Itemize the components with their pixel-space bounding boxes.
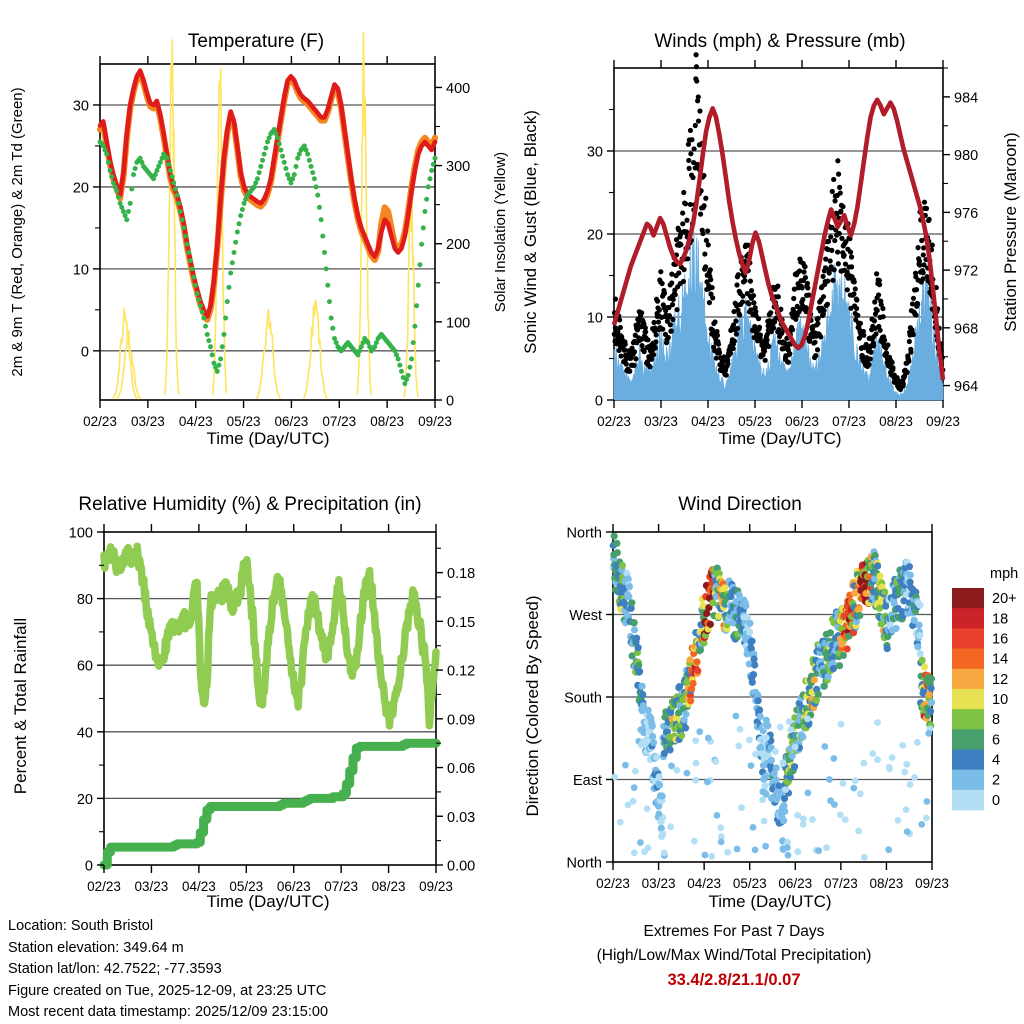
wind-direction-point <box>837 812 844 819</box>
dewpoint-point <box>262 152 267 157</box>
gust-point <box>724 373 729 378</box>
wind-direction-point <box>749 679 756 686</box>
gust-point <box>681 190 686 195</box>
gust-point <box>731 346 736 351</box>
gust-point <box>836 261 841 266</box>
dewpoint-point <box>168 168 173 173</box>
x-tick-label: 07/23 <box>832 414 866 429</box>
gust-point <box>797 268 802 273</box>
colorbar-band <box>952 628 984 649</box>
y-tick-label: North <box>567 526 602 542</box>
gust-point <box>660 281 665 286</box>
gust-point <box>680 210 685 215</box>
wind-direction-point <box>746 620 753 627</box>
y-tick-label: 20 <box>587 228 603 244</box>
dewpoint-point <box>228 270 233 275</box>
gust-point <box>716 342 721 347</box>
wind-direction-point <box>787 726 794 733</box>
colorbar-band <box>952 729 984 750</box>
gust-point <box>647 364 652 369</box>
gust-point <box>820 274 825 279</box>
gust-point <box>812 340 817 345</box>
gust-point <box>802 264 807 269</box>
colorbar-tick-label: 12 <box>992 672 1008 688</box>
gust-point <box>736 272 741 277</box>
gust-point <box>787 351 792 356</box>
wind-direction-point <box>777 724 784 731</box>
wind-direction-point <box>762 843 769 850</box>
gust-point <box>756 316 761 321</box>
wind-direction-point <box>684 770 691 777</box>
wind-direction-point <box>757 713 764 720</box>
gust-point <box>670 302 675 307</box>
colorbar-band <box>952 608 984 629</box>
solar-spike <box>303 300 327 399</box>
colorbar-band <box>952 689 984 710</box>
wind-direction-point <box>637 839 644 846</box>
gust-point <box>930 243 935 248</box>
wind-direction-point <box>742 602 749 609</box>
gust-point <box>832 267 837 272</box>
gust-point <box>825 302 830 307</box>
wind-direction-point <box>903 761 910 768</box>
gust-point <box>825 279 830 284</box>
wind-direction-point <box>844 645 851 652</box>
wind-direction-point <box>694 667 701 674</box>
gust-point <box>708 267 713 272</box>
wind-direction-point <box>631 626 638 633</box>
x-tick-label: 02/23 <box>83 414 117 429</box>
gust-point <box>801 269 806 274</box>
dewpoint-point <box>195 291 200 296</box>
gust-point <box>821 294 826 299</box>
gust-point <box>643 329 648 334</box>
y2-tick-label: 0.18 <box>447 566 475 582</box>
wind-direction-point <box>799 733 806 740</box>
dewpoint-point <box>309 164 314 169</box>
wind-direction-point <box>892 625 899 632</box>
gust-point <box>683 201 688 206</box>
wind-direction-point <box>746 737 753 744</box>
dewpoint-point <box>181 225 186 230</box>
wind-direction-point <box>661 849 668 856</box>
gust-point <box>751 293 756 298</box>
x-tick-label: 02/23 <box>87 879 121 894</box>
gust-point <box>681 267 686 272</box>
gust-point <box>697 108 702 113</box>
wind-direction-point <box>653 754 660 761</box>
wind-direction-point <box>628 599 635 606</box>
dewpoint-point <box>327 299 332 304</box>
gust-point <box>671 297 676 302</box>
wind-direction-point <box>860 760 867 767</box>
weather-dashboard: Temperature (F) 2m & 9m T (Red, Orange) … <box>0 0 1024 1024</box>
gust-point <box>694 64 699 69</box>
colorbar-tick-label: 2 <box>992 773 1000 789</box>
gust-point <box>649 357 654 362</box>
wind-direction-point <box>704 779 711 786</box>
wind-direction-point <box>899 742 906 749</box>
gust-point <box>881 314 886 319</box>
wind-direction-point <box>815 847 822 854</box>
gust-point <box>725 361 730 366</box>
wind-direction-point <box>781 808 788 815</box>
gust-point <box>639 343 644 348</box>
wind-direction-point <box>637 726 644 733</box>
wind-direction-point <box>850 785 857 792</box>
gust-point <box>816 316 821 321</box>
gust-point <box>906 359 911 364</box>
x-tick-label: 08/23 <box>870 876 904 891</box>
dewpoint-point <box>131 172 136 177</box>
gust-point <box>871 343 876 348</box>
wind-direction-point <box>659 830 666 837</box>
dewpoint-point <box>193 283 198 288</box>
wind-direction-point <box>649 723 656 730</box>
y-tick-label: 20 <box>77 792 93 808</box>
dewpoint-point <box>414 303 419 308</box>
wind-direction-point <box>809 816 816 823</box>
wind-direction-point <box>631 619 638 626</box>
wind-direction-point <box>815 691 822 698</box>
gust-point <box>651 320 656 325</box>
dewpoint-point <box>188 258 193 263</box>
wind-direction-point <box>907 572 914 579</box>
wind-direction-point <box>914 643 921 650</box>
gust-point <box>618 325 623 330</box>
dewpoint-point <box>315 193 320 198</box>
gust-point <box>832 198 837 203</box>
gust-point <box>662 291 667 296</box>
gust-point <box>653 339 658 344</box>
dewpoint-point <box>317 205 322 210</box>
humidity-ylabel: Percent & Total Rainfall <box>11 618 30 794</box>
gust-point <box>633 356 638 361</box>
gust-point <box>708 277 713 282</box>
gust-point <box>696 94 701 99</box>
colorbar-tick-label: 4 <box>992 753 1000 769</box>
y2-tick-label: 400 <box>446 81 470 97</box>
dewpoint-point <box>183 234 188 239</box>
humidity-title: Relative Humidity (%) & Precipitation (i… <box>78 494 421 515</box>
wind-direction-point <box>768 757 775 764</box>
y-tick-label: 30 <box>587 145 603 161</box>
dewpoint-point <box>282 160 287 165</box>
wind-direction-point <box>715 613 722 620</box>
y-tick-label: 80 <box>77 592 93 608</box>
gust-point <box>815 321 820 326</box>
dewpoint-point <box>114 189 119 194</box>
wind-direction-point <box>856 605 863 612</box>
y2-tick-label: 0.00 <box>447 859 475 875</box>
wind-direction-point <box>631 849 638 856</box>
gust-point <box>839 236 844 241</box>
dewpoint-point <box>186 250 191 255</box>
wind-direction-point <box>678 732 685 739</box>
wind-direction-point <box>674 767 681 774</box>
dewpoint-point <box>324 266 329 271</box>
y-tick-label: 0 <box>595 394 603 410</box>
dewpoint-point <box>277 141 282 146</box>
gust-point <box>666 335 671 340</box>
wind-direction-point <box>614 549 621 556</box>
gust-point <box>803 275 808 280</box>
colorbar-band <box>952 649 984 670</box>
dewpoint-point <box>129 186 134 191</box>
wind-direction-point <box>756 706 763 713</box>
wind-direction-point <box>690 680 697 687</box>
figure-metadata: Location: South BristolStation elevation… <box>8 916 328 1024</box>
gust-point <box>742 278 747 283</box>
panel-winds-pressure: Winds (mph) & Pressure (mb) Sonic Wind &… <box>512 0 1024 455</box>
dewpoint-point <box>237 221 242 226</box>
wind-direction-point <box>692 737 699 744</box>
wind-direction-point <box>831 801 838 808</box>
gust-point <box>737 312 742 317</box>
dewpoint-point <box>278 148 283 153</box>
dewpoint-point <box>223 316 228 321</box>
dewpoint-point <box>322 250 327 255</box>
gust-point <box>655 299 660 304</box>
wind-direction-point <box>708 853 715 860</box>
dewpoint-point <box>185 242 190 247</box>
dewpoint-point <box>293 164 298 169</box>
x-tick-label: 03/23 <box>644 414 678 429</box>
x-tick-label: 07/23 <box>322 414 356 429</box>
dewpoint-point <box>226 285 231 290</box>
dewpoint-point <box>208 344 213 349</box>
dewpoint-point <box>412 324 417 329</box>
wind-direction-point <box>632 768 639 775</box>
gust-point <box>681 279 686 284</box>
dewpoint-point <box>240 207 245 212</box>
wind-direction-point <box>911 774 918 781</box>
x-tick-label: 06/23 <box>275 414 309 429</box>
wind-direction-point <box>748 762 755 769</box>
wind-direction-point <box>800 815 807 822</box>
gust-point <box>890 365 895 370</box>
dewpoint-point <box>232 250 237 255</box>
gust-point <box>905 370 910 375</box>
dewpoint-point <box>257 170 262 175</box>
wind-direction-point <box>737 726 744 733</box>
gust-point <box>670 317 675 322</box>
gust-point <box>874 271 879 276</box>
x-tick-label: 08/23 <box>370 414 404 429</box>
wind-direction-point <box>717 824 724 831</box>
wind-direction-point <box>811 676 818 683</box>
wind-direction-point <box>630 798 637 805</box>
gust-point <box>707 300 712 305</box>
dewpoint-point <box>196 297 201 302</box>
gust-point <box>838 190 843 195</box>
gust-point <box>688 128 693 133</box>
wind-direction-point <box>687 697 694 704</box>
y2-tick-label: 0.15 <box>447 615 475 631</box>
dewpoint-point <box>417 262 422 267</box>
temperature-plot-area: 0102030010020030040002/2303/2304/2305/23… <box>73 32 470 429</box>
wind-direction-point <box>635 662 642 669</box>
solar-spike <box>165 39 179 394</box>
y-tick-label: South <box>564 691 602 707</box>
gust-point <box>735 326 740 331</box>
wind-direction-point <box>763 734 770 741</box>
metadata-line: Station lat/lon: 42.7522; -77.3593 <box>8 959 328 981</box>
y-tick-label: 60 <box>77 659 93 675</box>
wind-direction-point <box>919 657 926 664</box>
gust-point <box>624 361 629 366</box>
colorbar-tick-label: 20+ <box>992 591 1017 607</box>
gust-point <box>669 280 674 285</box>
gust-point <box>757 325 762 330</box>
wind-direction-plot-area: NorthWestSouthEastNorth02/2303/2304/2305… <box>564 524 949 891</box>
y-tick-label: 10 <box>587 311 603 327</box>
gust-point <box>660 327 665 332</box>
x-tick-label: 05/23 <box>227 414 261 429</box>
dewpoint-point <box>258 164 263 169</box>
colorbar-band <box>952 790 984 811</box>
wind-direction-point <box>889 754 896 761</box>
wind-direction-point <box>773 764 780 771</box>
dewpoint-point <box>407 365 412 370</box>
wind-direction-point <box>645 845 652 852</box>
y2-tick-label: 0.09 <box>447 712 475 728</box>
wind-direction-point <box>748 638 755 645</box>
wind-direction-point <box>645 707 652 714</box>
colorbar-tick-label: 14 <box>992 652 1008 668</box>
wind-direction-point <box>656 811 663 818</box>
gust-point <box>799 285 804 290</box>
extremes-subheading: (High/Low/Max Wind/Total Precipitation) <box>524 944 944 968</box>
wind-direction-point <box>667 823 674 830</box>
wind-direction-point <box>826 776 833 783</box>
colorbar-tick-label: 8 <box>992 712 1000 728</box>
dewpoint-point <box>416 283 421 288</box>
dewpoint-point <box>275 135 280 140</box>
dewpoint-point <box>166 162 171 167</box>
gust-point <box>686 166 691 171</box>
x-tick-label: 06/23 <box>277 879 311 894</box>
gust-point <box>868 356 873 361</box>
dewpoint-point <box>325 283 330 288</box>
wind-direction-point <box>636 668 643 675</box>
wind-direction-point <box>881 588 888 595</box>
x-tick-label: 09/23 <box>915 876 949 891</box>
dewpoint-point <box>173 186 178 191</box>
gust-point <box>734 332 739 337</box>
wind-direction-point <box>836 662 843 669</box>
wind-direction-point <box>874 719 881 726</box>
gust-point <box>622 347 627 352</box>
wind-direction-point <box>631 784 638 791</box>
wind-direction-point <box>925 730 932 737</box>
wind-direction-point <box>639 691 646 698</box>
gust-point <box>632 349 637 354</box>
dewpoint-point <box>396 357 401 362</box>
gust-point <box>710 295 715 300</box>
wind-direction-point <box>901 769 908 776</box>
wind-direction-point <box>697 647 704 654</box>
y2-tick-label: 200 <box>446 237 470 253</box>
colorbar-title: mph <box>990 566 1018 582</box>
dewpoint-point <box>314 184 319 189</box>
x-tick-label: 06/23 <box>778 876 812 891</box>
gust-point <box>866 362 871 367</box>
y2-tick-label: 976 <box>954 206 978 222</box>
x-tick-label: 08/23 <box>372 879 406 894</box>
wind-direction-point <box>750 824 757 831</box>
gust-point <box>698 212 703 217</box>
dewpoint-point <box>210 352 215 357</box>
dewpoint-point <box>216 363 221 368</box>
x-tick-label: 06/23 <box>785 414 819 429</box>
wind-direction-point <box>813 697 820 704</box>
gust-point <box>694 78 699 83</box>
wind-direction-point <box>746 628 753 635</box>
dewpoint-point <box>108 168 113 173</box>
colorbar-band <box>952 749 984 770</box>
panel-temperature: Temperature (F) 2m & 9m T (Red, Orange) … <box>0 0 512 455</box>
dewpoint-point <box>426 184 431 189</box>
gust-point <box>684 218 689 223</box>
gust-point <box>758 332 763 337</box>
gust-point <box>669 328 674 333</box>
dewpoint-point <box>106 160 111 165</box>
x-tick-label: 02/23 <box>596 876 630 891</box>
gust-point <box>854 306 859 311</box>
gust-point <box>842 253 847 258</box>
x-tick-label: 05/23 <box>733 876 767 891</box>
dewpoint-point <box>305 152 310 157</box>
winds-plot-area: 010203096496897297698098402/2303/2304/23… <box>587 52 978 429</box>
dewpoint-series <box>98 127 438 386</box>
gust-point <box>880 306 885 311</box>
y-tick-label: East <box>573 773 602 789</box>
colorbar-band <box>952 669 984 690</box>
gust-point <box>701 203 706 208</box>
gust-point <box>639 310 644 315</box>
gust-point <box>876 292 881 297</box>
gust-point <box>680 221 685 226</box>
wind-direction-point <box>692 777 699 784</box>
wind-direction-point <box>682 711 689 718</box>
dewpoint-point <box>190 266 195 271</box>
dewpoint-point <box>170 174 175 179</box>
humidity-xlabel: Time (Day/UTC) <box>206 892 329 911</box>
gust-point <box>885 342 890 347</box>
wind-direction-point <box>928 699 935 706</box>
colorbar-tick-label: 16 <box>992 631 1008 647</box>
dewpoint-point <box>225 299 230 304</box>
wind-direction-point <box>622 762 629 769</box>
dewpoint-point <box>205 332 210 337</box>
wind-direction-point <box>617 819 624 826</box>
wind-direction-point <box>659 793 666 800</box>
dewpoint-point <box>128 201 133 206</box>
colorbar-tick-label: 10 <box>992 692 1008 708</box>
gust-point <box>877 282 882 287</box>
gust-point <box>915 302 920 307</box>
gust-point <box>740 299 745 304</box>
gust-point <box>858 321 863 326</box>
gust-point <box>855 313 860 318</box>
dewpoint-point <box>429 168 434 173</box>
wind-direction-point <box>895 817 902 824</box>
wind-direction-point <box>724 849 731 856</box>
gust-point <box>775 283 780 288</box>
wind-direction-point <box>733 713 740 720</box>
gust-point <box>712 319 717 324</box>
